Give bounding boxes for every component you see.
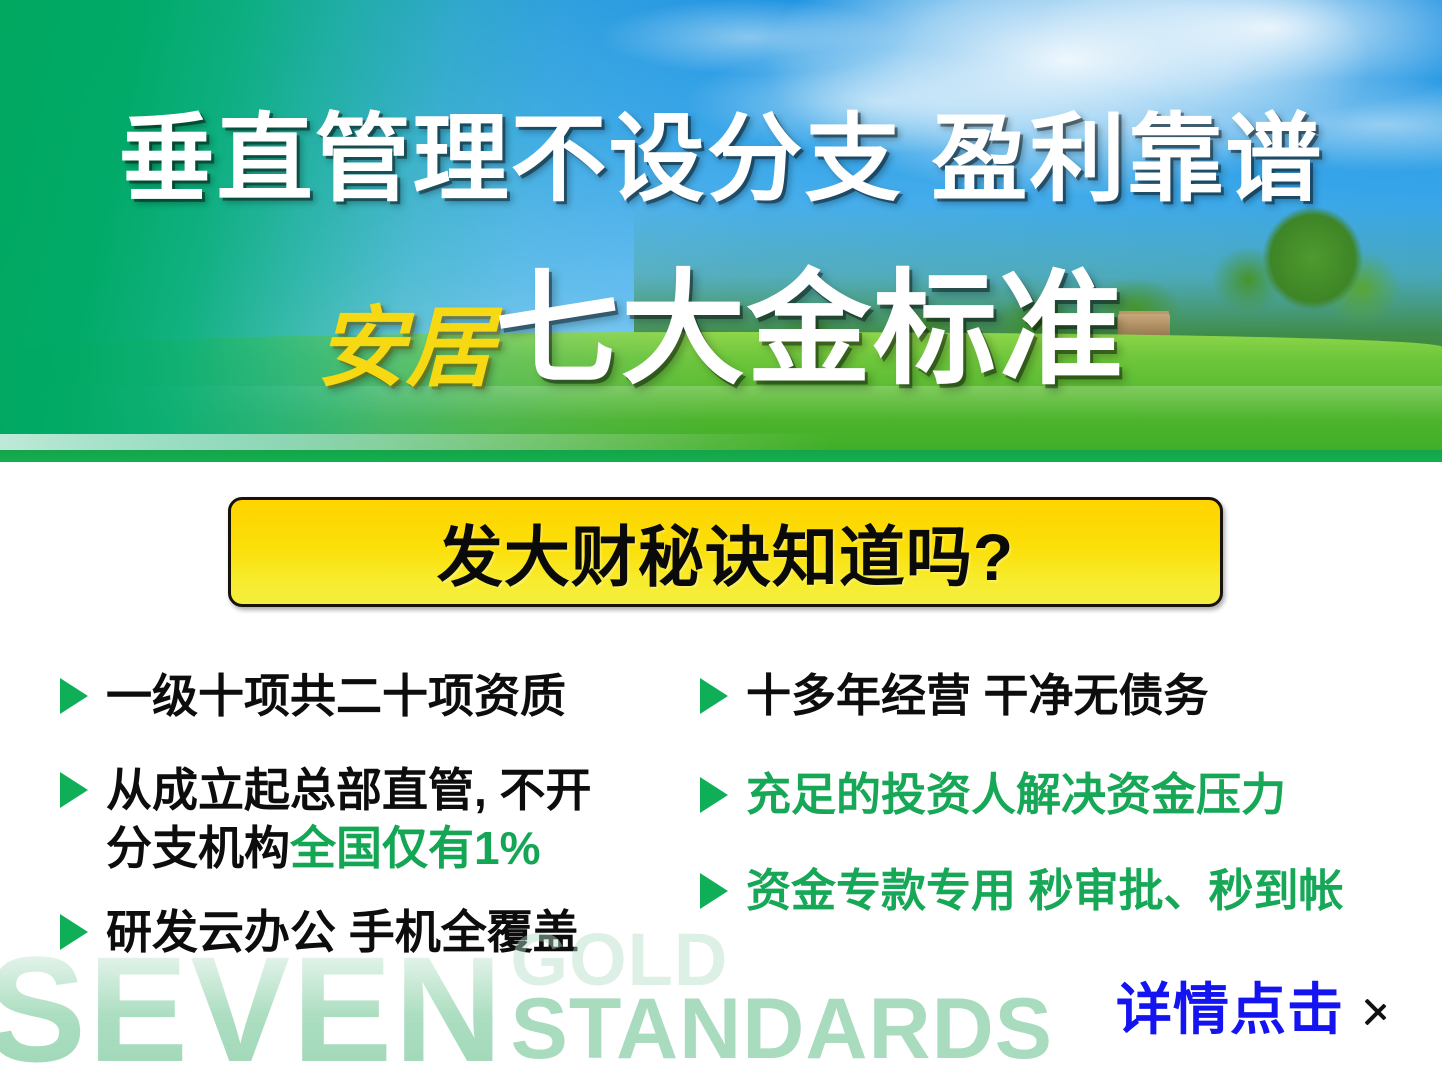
chevron-right-icon	[1364, 989, 1390, 1031]
bullet-text-line2-plain: 分支机构	[106, 822, 290, 874]
triangle-bullet-icon	[700, 777, 728, 813]
bullet-text: 从成立起总部直管, 不开 分支机构全国仅有1%	[106, 762, 592, 878]
watermark-standards-text: STANDARDS	[511, 992, 1054, 1066]
advertisement-banner-page: 垂直管理不设分支 盈利靠谱 安居七大金标准 发大财秘诀知道吗? 一级十项共二十项…	[0, 0, 1442, 1066]
triangle-bullet-icon	[60, 914, 88, 950]
headline-secondary: 安居七大金标准	[0, 268, 1442, 392]
triangle-bullet-icon	[700, 873, 728, 909]
bullet-text-highlight: 全国仅有1%	[290, 822, 540, 874]
triangle-bullet-icon	[700, 678, 728, 714]
banner-bottom-strip	[0, 450, 1442, 462]
bullet-text: 十多年经营 干净无债务	[746, 668, 1209, 725]
headline-secondary-main: 七大金标准	[495, 261, 1125, 399]
list-item: 资金专款专用 秒审批、秒到帐	[700, 863, 1400, 920]
bullet-text-line1: 从成立起总部直管, 不开	[106, 764, 592, 816]
bullet-text: 资金专款专用 秒审批、秒到帐	[746, 863, 1344, 920]
list-item: 研发云办公 手机全覆盖	[60, 904, 700, 962]
hero-banner: 垂直管理不设分支 盈利靠谱 安居七大金标准	[0, 0, 1442, 462]
bullet-text: 一级十项共二十项资质	[106, 668, 566, 726]
list-item: 充足的投资人解决资金压力	[700, 767, 1400, 824]
list-item: 一级十项共二十项资质	[60, 668, 700, 726]
bullet-column-right: 十多年经营 干净无债务 充足的投资人解决资金压力 资金专款专用 秒审批、秒到帐	[700, 668, 1400, 946]
list-item: 十多年经营 干净无债务	[700, 668, 1400, 725]
highlight-question-text: 发大财秘诀知道吗?	[437, 504, 1014, 600]
bottom-white-fade	[0, 434, 836, 450]
bullet-text: 研发云办公 手机全覆盖	[106, 904, 579, 962]
triangle-bullet-icon	[60, 772, 88, 808]
feature-bullet-section: 一级十项共二十项资质 从成立起总部直管, 不开 分支机构全国仅有1% 研发云办公…	[0, 668, 1442, 968]
triangle-bullet-icon	[60, 678, 88, 714]
bullet-text: 充足的投资人解决资金压力	[746, 767, 1286, 824]
headline-primary: 垂直管理不设分支 盈利靠谱	[0, 112, 1442, 208]
bullet-column-left: 一级十项共二十项资质 从成立起总部直管, 不开 分支机构全国仅有1% 研发云办公…	[60, 668, 700, 988]
detail-link-label: 详情点击	[1116, 982, 1344, 1038]
highlight-question-bar[interactable]: 发大财秘诀知道吗?	[228, 497, 1223, 607]
detail-click-link[interactable]: 详情点击	[1116, 982, 1390, 1038]
list-item: 从成立起总部直管, 不开 分支机构全国仅有1%	[60, 762, 700, 878]
brand-name-text: 安居	[317, 298, 495, 397]
